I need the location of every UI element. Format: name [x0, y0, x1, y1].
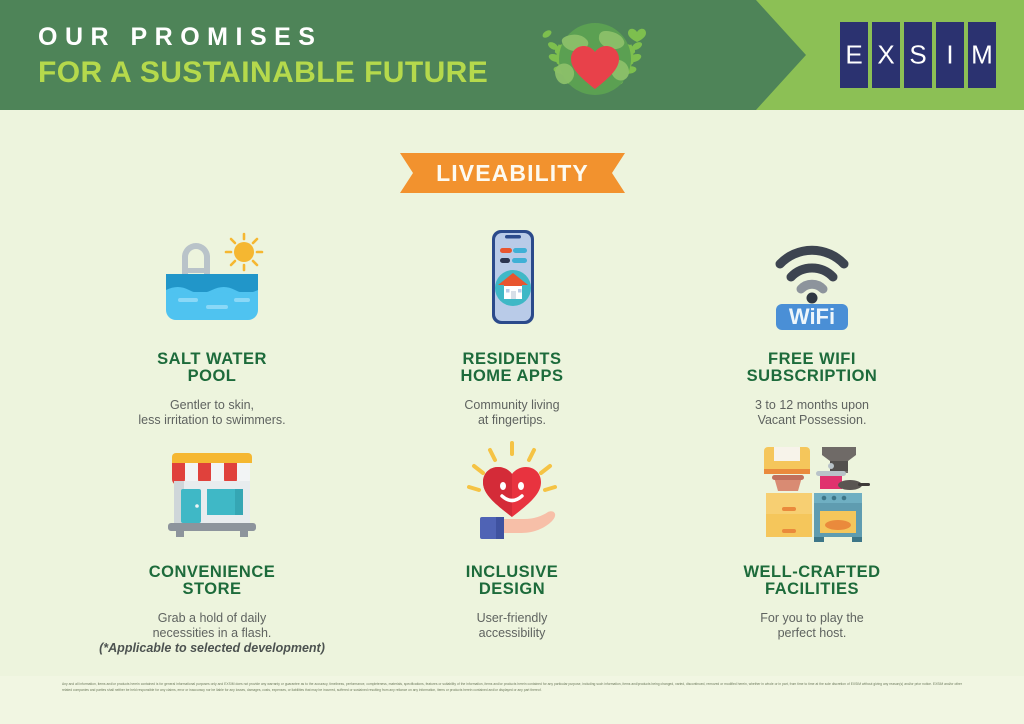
feature-title-line2: POOL: [157, 368, 267, 385]
logo-tile-i: I: [936, 22, 964, 88]
feature-description: Community living at fingertips.: [464, 398, 559, 428]
swimming-pool-icon: [152, 228, 272, 330]
feature-desc-line1: Gentler to skin,: [138, 398, 285, 413]
globe-heart-leaves-icon: [533, 16, 657, 102]
heart-in-hand-icon: [452, 441, 572, 543]
exsim-logo[interactable]: E X S I M: [840, 22, 996, 88]
feature-title-line2: HOME APPS: [461, 368, 564, 385]
ribbon-label: LIVEABILITY: [436, 160, 589, 187]
logo-letter-m: M: [968, 40, 996, 71]
feature-title-line1: FREE WIFI: [747, 351, 878, 368]
feature-title: RESIDENTS HOME APPS: [461, 351, 564, 385]
feature-title-line2: STORE: [149, 581, 276, 598]
feature-title: FREE WIFI SUBSCRIPTION: [747, 351, 878, 385]
logo-tile-m: M: [968, 22, 996, 88]
logo-letter-e: E: [840, 40, 868, 71]
feature-card-inclusive-design: INCLUSIVE DESIGN User-friendly accessibi…: [362, 441, 662, 656]
feature-description: Grab a hold of daily necessities in a fl…: [99, 611, 325, 656]
feature-title: CONVENIENCE STORE: [149, 564, 276, 598]
page-title-line1: OUR PROMISES: [38, 22, 488, 52]
feature-title: SALT WATER POOL: [157, 351, 267, 385]
kitchen-facilities-icon: [752, 441, 872, 543]
feature-title: INCLUSIVE DESIGN: [466, 564, 559, 598]
section-ribbon-liveability: LIVEABILITY: [400, 153, 625, 193]
feature-description: Gentler to skin, less irritation to swim…: [138, 398, 285, 428]
feature-card-salt-water-pool: SALT WATER POOL Gentler to skin, less ir…: [62, 228, 362, 428]
svg-text:WiFi: WiFi: [789, 304, 835, 329]
logo-tile-e: E: [840, 22, 868, 88]
disclaimer-text: Any and all information, items and/or pr…: [62, 682, 962, 693]
logo-letter-x: X: [872, 40, 900, 71]
footer-band: Any and all information, items and/or pr…: [0, 676, 1024, 724]
feature-desc-line1: Community living: [464, 398, 559, 413]
smartphone-home-app-icon: [452, 228, 572, 330]
feature-description-note: (*Applicable to selected development): [99, 641, 325, 656]
feature-title-line1: WELL-CRAFTED: [743, 564, 880, 581]
feature-description: User-friendly accessibility: [477, 611, 548, 641]
feature-description: 3 to 12 months upon Vacant Possession.: [755, 398, 869, 428]
feature-desc-line2: at fingertips.: [464, 413, 559, 428]
feature-description: For you to play the perfect host.: [760, 611, 864, 641]
feature-desc-line1: Grab a hold of daily: [99, 611, 325, 626]
feature-title-line2: SUBSCRIPTION: [747, 368, 878, 385]
wifi-icon: WiFi: [752, 228, 872, 330]
logo-letter-s: S: [904, 40, 932, 71]
feature-card-free-wifi: WiFi FREE WIFI SUBSCRIPTION 3 to 12 mont…: [662, 228, 962, 428]
feature-desc-line2: accessibility: [477, 626, 548, 641]
feature-title-line1: INCLUSIVE: [466, 564, 559, 581]
feature-card-residents-home-apps: RESIDENTS HOME APPS Community living at …: [362, 228, 662, 428]
feature-desc-line2: perfect host.: [760, 626, 864, 641]
logo-tile-x: X: [872, 22, 900, 88]
convenience-store-icon: [152, 441, 272, 543]
feature-desc-line1: User-friendly: [477, 611, 548, 626]
logo-tile-s: S: [904, 22, 932, 88]
feature-title-line1: SALT WATER: [157, 351, 267, 368]
feature-desc-line2: necessities in a flash.: [99, 626, 325, 641]
logo-letter-i: I: [936, 40, 964, 71]
feature-title: WELL-CRAFTED FACILITIES: [743, 564, 880, 598]
feature-desc-line2: less irritation to swimmers.: [138, 413, 285, 428]
header-banner: OUR PROMISES FOR A SUSTAINABLE FUTURE: [0, 0, 1024, 110]
infographic-page: OUR PROMISES FOR A SUSTAINABLE FUTURE: [0, 0, 1024, 724]
feature-desc-line1: 3 to 12 months upon: [755, 398, 869, 413]
feature-title-line1: RESIDENTS: [461, 351, 564, 368]
feature-desc-line2: Vacant Possession.: [755, 413, 869, 428]
feature-desc-line1: For you to play the: [760, 611, 864, 626]
feature-card-well-crafted-facilities: WELL-CRAFTED FACILITIES For you to play …: [662, 441, 962, 656]
features-grid: SALT WATER POOL Gentler to skin, less ir…: [62, 228, 962, 656]
header-title-group: OUR PROMISES FOR A SUSTAINABLE FUTURE: [38, 22, 488, 91]
feature-title-line1: CONVENIENCE: [149, 564, 276, 581]
feature-title-line2: FACILITIES: [743, 581, 880, 598]
feature-title-line2: DESIGN: [466, 581, 559, 598]
feature-card-convenience-store: CONVENIENCE STORE Grab a hold of daily n…: [62, 441, 362, 656]
page-title-line2: FOR A SUSTAINABLE FUTURE: [38, 55, 488, 91]
